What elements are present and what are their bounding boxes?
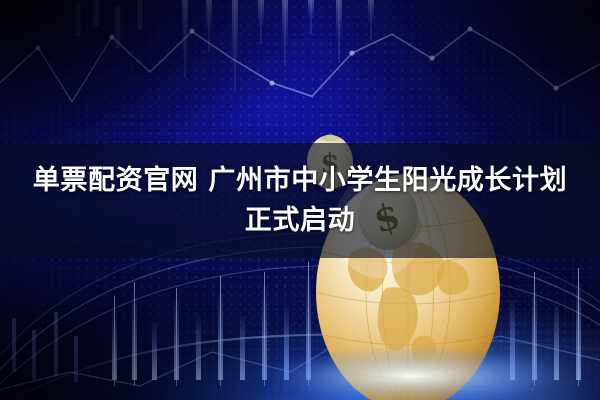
globe-base-glow (262, 346, 562, 400)
news-banner: $ (0, 0, 600, 400)
page-title: 单票配资官网 广州市中小学生阳光成长计划正式启动 (0, 143, 600, 258)
